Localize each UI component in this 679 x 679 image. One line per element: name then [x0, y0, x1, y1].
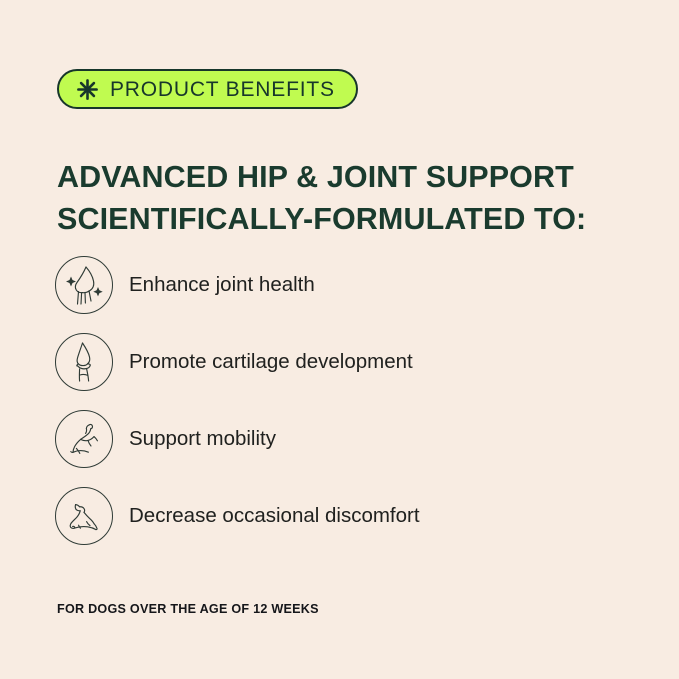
benefit-row: Enhance joint health: [55, 256, 635, 314]
benefit-label: Decrease occasional discomfort: [129, 504, 420, 529]
benefits-list: Enhance joint health: [55, 256, 635, 564]
page-title: ADVANCED HIP & JOINT SUPPORT SCIENTIFICA…: [57, 156, 637, 240]
joint-sparkle-icon: [55, 256, 113, 314]
resting-dog-icon: [55, 487, 113, 545]
leaping-dog-icon: [55, 410, 113, 468]
benefit-row: Promote cartilage development: [55, 333, 635, 391]
age-disclaimer: FOR DOGS OVER THE AGE OF 12 WEEKS: [57, 602, 319, 616]
benefit-label: Support mobility: [129, 427, 276, 452]
benefit-row: Support mobility: [55, 410, 635, 468]
page-title-line-2: SCIENTIFICALLY-FORMULATED TO:: [57, 198, 637, 240]
badge-label: PRODUCT BENEFITS: [110, 79, 335, 100]
product-benefits-panel: PRODUCT BENEFITS ADVANCED HIP & JOINT SU…: [0, 0, 679, 679]
asterisk-icon: [76, 78, 99, 101]
benefit-row: Decrease occasional discomfort: [55, 487, 635, 545]
benefit-label: Promote cartilage development: [129, 350, 413, 375]
knee-cartilage-icon: [55, 333, 113, 391]
page-title-line-1: ADVANCED HIP & JOINT SUPPORT: [57, 156, 637, 198]
benefit-label: Enhance joint health: [129, 273, 315, 298]
product-benefits-badge: PRODUCT BENEFITS: [57, 69, 358, 109]
